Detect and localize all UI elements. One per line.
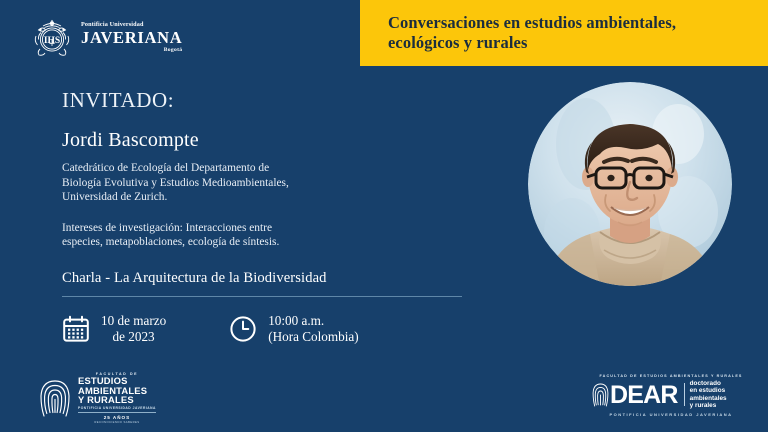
- dear-tagline-line-4: y rurales: [690, 402, 727, 409]
- fear-logo-anniversary: 25 AÑOS RECONOCIENDO SABERES: [78, 412, 156, 424]
- fingerprint-icon: [38, 377, 72, 419]
- event-date-line-2: de 2023: [101, 329, 166, 346]
- banner-line-2: ecológicos y rurales: [388, 33, 746, 53]
- fear-logo-sub-micro: PONTIFICIA UNIVERSIDAD JAVERIANA: [78, 406, 156, 410]
- dear-logo-micro-top: FACULTAD DE ESTUDIOS AMBIENTALES Y RURAL…: [592, 374, 750, 378]
- university-logo-line-3: Bogotá: [81, 48, 182, 54]
- event-time-line-1: 10:00 a.m.: [268, 313, 358, 330]
- speaker-name: Jordi Bascompte: [62, 129, 482, 152]
- affiliation-line-2: Biología Evolutiva y Estudios Medioambie…: [62, 177, 289, 189]
- event-date-text: 10 de marzo de 2023: [101, 313, 166, 346]
- dear-program-logo: FACULTAD DE ESTUDIOS AMBIENTALES Y RURAL…: [592, 374, 750, 422]
- dear-logo-tagline: doctorado en estudios ambientales y rura…: [690, 380, 727, 409]
- dear-logo-micro-bottom: PONTIFICIA UNIVERSIDAD JAVERIANA: [592, 412, 750, 417]
- dear-tagline-line-1: doctorado: [690, 380, 727, 387]
- javeriana-crest-icon: IHS: [30, 16, 74, 60]
- event-date-block: 10 de marzo de 2023: [62, 313, 166, 346]
- dear-tagline-line-3: ambientales: [690, 395, 727, 402]
- event-series-banner: Conversaciones en estudios ambientales, …: [360, 0, 768, 66]
- invited-label: INVITADO:: [62, 88, 482, 113]
- affiliation-line-3: Universidad de Zurich.: [62, 191, 167, 203]
- fear-anniversary-tagline: RECONOCIENDO SABERES: [78, 420, 156, 424]
- interests-line-2: especies, metapoblaciones, ecología de s…: [62, 236, 279, 248]
- event-datetime-row: 10 de marzo de 2023 10:00 a.m. (Hora Col…: [62, 313, 482, 346]
- dear-wordmark: DEAR: [610, 382, 678, 408]
- calendar-icon: [62, 315, 90, 343]
- speaker-portrait: [528, 82, 732, 286]
- event-time-line-2: (Hora Colombia): [268, 329, 358, 346]
- banner-line-1: Conversaciones en estudios ambientales,: [388, 13, 746, 33]
- fear-logo-line-3: Y RURALES: [78, 395, 156, 405]
- event-time-text: 10:00 a.m. (Hora Colombia): [268, 313, 358, 346]
- event-time-block: 10:00 a.m. (Hora Colombia): [229, 313, 358, 346]
- university-logo-line-2: JAVERIANA: [81, 30, 182, 47]
- clock-icon: [229, 315, 257, 343]
- affiliation-line-1: Catedrático de Ecología del Departamento…: [62, 162, 269, 174]
- main-content: INVITADO: Jordi Bascompte Catedrático de…: [62, 88, 482, 346]
- portrait-photo: [528, 82, 732, 286]
- dear-tagline-line-2: en estudios: [690, 387, 727, 394]
- speaker-affiliation: Catedrático de Ecología del Departamento…: [62, 161, 482, 205]
- event-date-line-1: 10 de marzo: [101, 313, 166, 330]
- section-divider: [62, 296, 462, 297]
- faculty-fear-logo: FACULTAD DE ESTUDIOS AMBIENTALES Y RURAL…: [38, 376, 156, 420]
- interests-line-1: Intereses de investigación: Interaccione…: [62, 222, 272, 234]
- event-poster: Conversaciones en estudios ambientales, …: [0, 0, 768, 432]
- javeriana-university-logo: IHS Pontificia Universidad JAVERIANA Bog…: [30, 14, 210, 62]
- research-interests: Intereses de investigación: Interaccione…: [62, 221, 482, 250]
- talk-title: Charla - La Arquitectura de la Biodivers…: [62, 270, 482, 287]
- dear-logo-divider: [684, 383, 685, 406]
- dear-fingerprint-icon: [592, 382, 609, 408]
